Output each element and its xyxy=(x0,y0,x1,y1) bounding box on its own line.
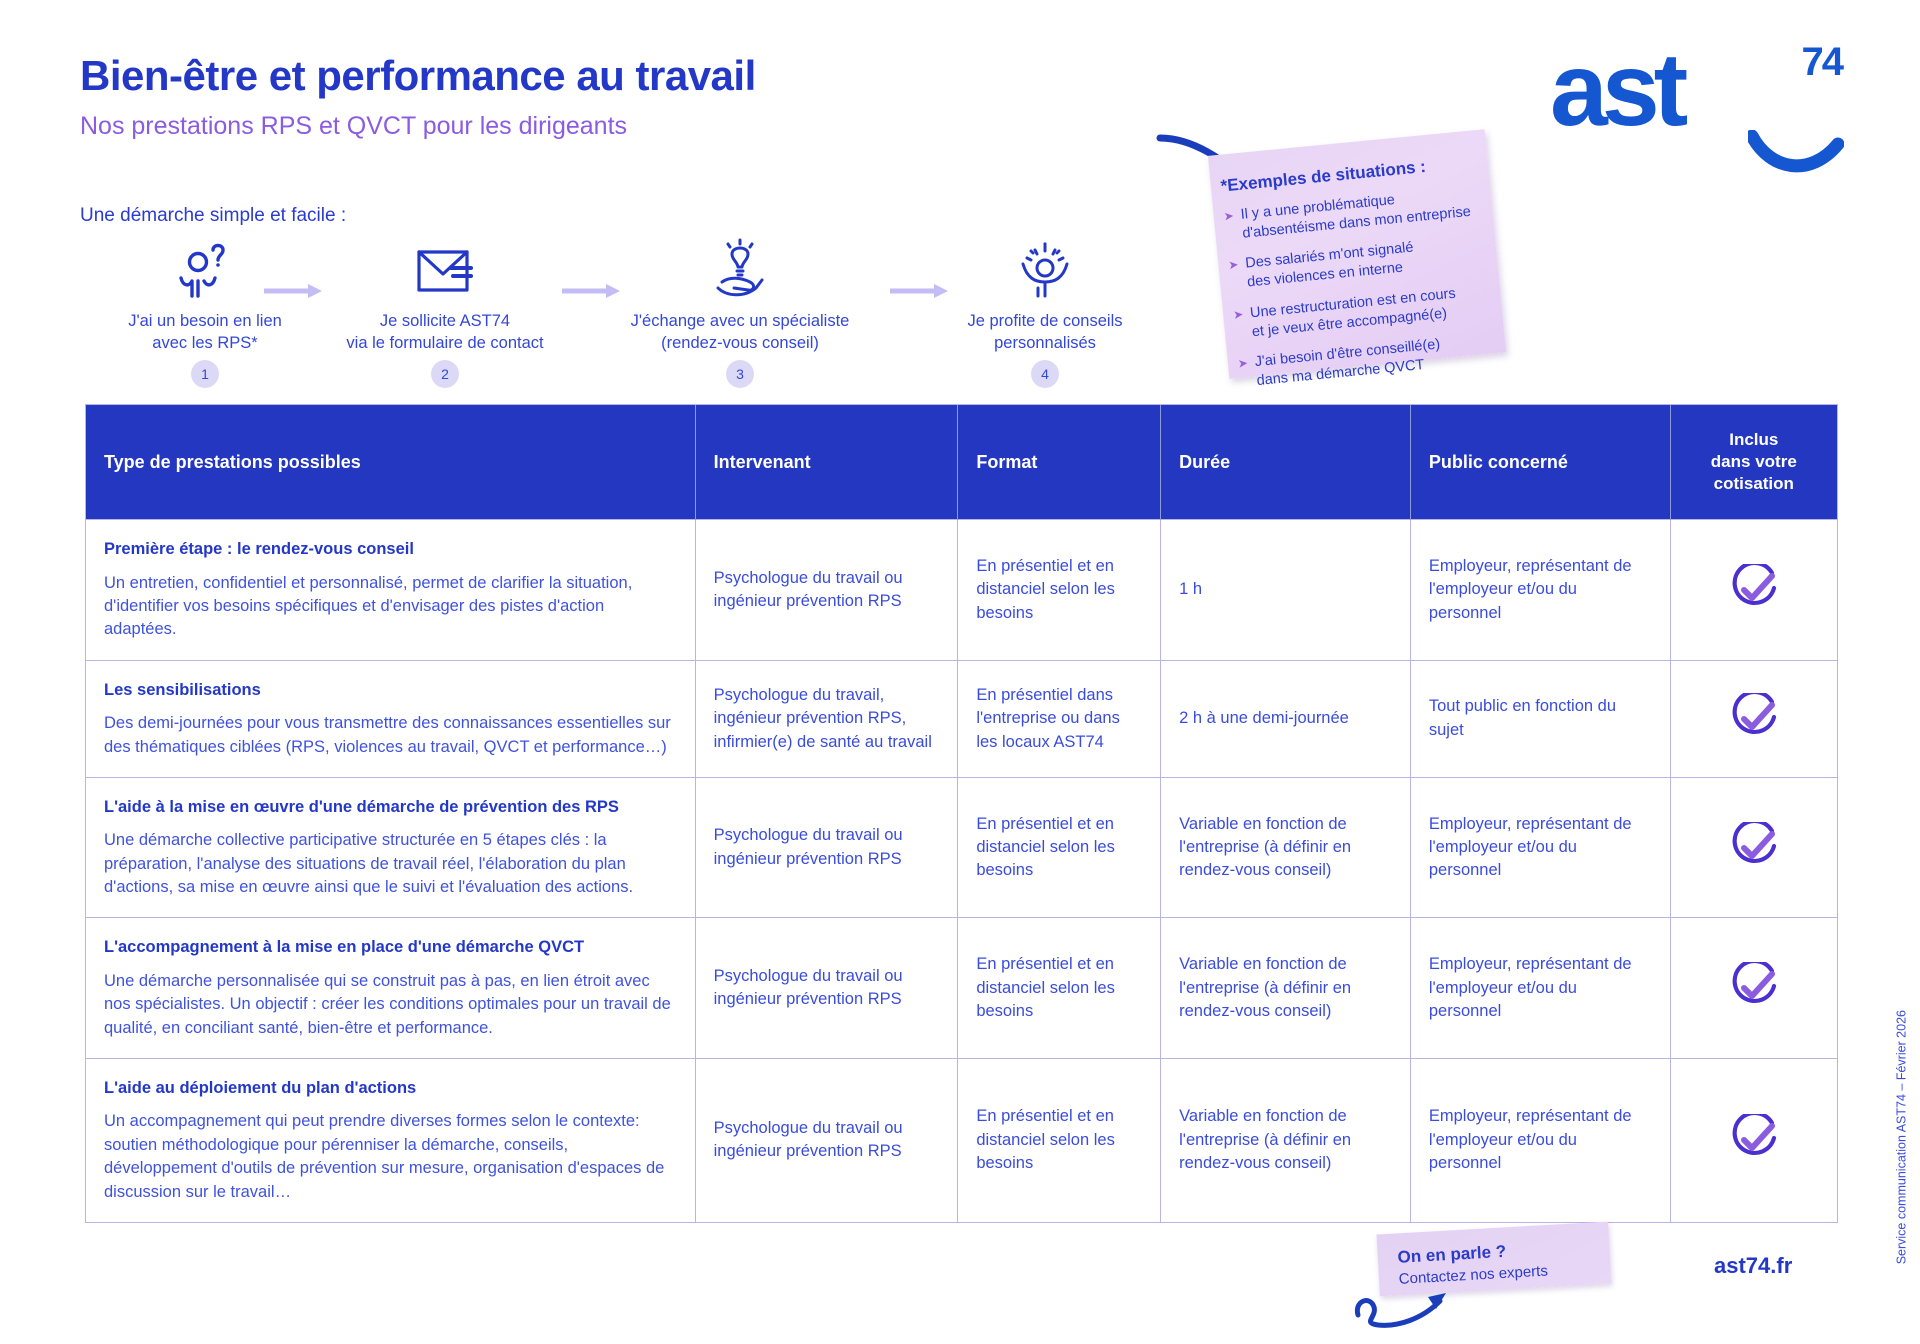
envelope-icon xyxy=(330,238,560,300)
process-step-3: J'échange avec un spécialiste (rendez-vo… xyxy=(625,238,855,388)
step-label: Je sollicite AST74 via le formulaire de … xyxy=(330,310,560,354)
step-label: Je profite de conseils personnalisés xyxy=(930,310,1160,354)
table-row: L'aide au déploiement du plan d'actions … xyxy=(86,1058,1837,1221)
cell-intervenant: Psychologue du travail ou ingénieur prév… xyxy=(695,777,958,918)
table-row: Première étape : le rendez-vous conseil … xyxy=(86,520,1837,661)
row-title: L'aide au déploiement du plan d'actions xyxy=(104,1077,677,1099)
cell-duree: 2 h à une demi-journée xyxy=(1161,660,1411,777)
row-title: Première étape : le rendez-vous conseil xyxy=(104,538,677,560)
bullet-arrow-icon: ➤ xyxy=(1237,354,1251,393)
row-description: Une démarche collective participative st… xyxy=(104,829,677,899)
row-title: L'accompagnement à la mise en place d'un… xyxy=(104,936,677,958)
cell-intervenant: Psychologue du travail ou ingénieur prév… xyxy=(695,918,958,1059)
step-number: 4 xyxy=(1031,360,1059,388)
check-circle-icon xyxy=(1689,822,1819,874)
website-url: ast74.fr xyxy=(1714,1253,1792,1279)
lightbulb-hand-icon xyxy=(625,238,855,300)
cell-format: En présentiel et en distanciel selon les… xyxy=(958,1058,1161,1221)
row-title: Les sensibilisations xyxy=(104,679,677,701)
sticky-item-text: Il y a une problématiqued'absentéisme da… xyxy=(1240,184,1472,244)
step-number: 3 xyxy=(726,360,754,388)
sticky-item-text: Une restructuration est en courset je ve… xyxy=(1249,284,1458,342)
poster-page: Bien-être et performance au travail Nos … xyxy=(0,0,1920,1344)
check-circle-icon xyxy=(1689,564,1819,616)
row-description: Un accompagnement qui peut prendre diver… xyxy=(104,1110,677,1204)
col-header-inclus: Inclus dans votre cotisation xyxy=(1670,405,1837,520)
cell-duree: Variable en fonction de l'entreprise (à … xyxy=(1161,1058,1411,1221)
cell-format: En présentiel et en distanciel selon les… xyxy=(958,918,1161,1059)
cell-intervenant: Psychologue du travail ou ingénieur prév… xyxy=(695,1058,958,1221)
col-header-intervenant: Intervenant xyxy=(695,405,958,520)
col-header-duree: Durée xyxy=(1161,405,1411,520)
process-step-4: Je profite de conseils personnalisés 4 xyxy=(930,238,1160,388)
ast74-logo: ast 74 xyxy=(1550,38,1850,168)
cell-intervenant: Psychologue du travail, ingénieur préven… xyxy=(695,660,958,777)
cell-duree: Variable en fonction de l'entreprise (à … xyxy=(1161,777,1411,918)
cell-inclus xyxy=(1670,520,1837,661)
col-header-format: Format xyxy=(958,405,1161,520)
process-step-1: J'ai un besoin en lien avec les RPS* 1 xyxy=(90,238,320,388)
cell-type: L'accompagnement à la mise en place d'un… xyxy=(86,918,695,1059)
sticky-note: *Exemples de situations : ➤ Il y a une p… xyxy=(1196,126,1517,384)
cell-format: En présentiel et en distanciel selon les… xyxy=(958,520,1161,661)
table-row: Les sensibilisations Des demi-journées p… xyxy=(86,660,1837,777)
page-title: Bien-être et performance au travail xyxy=(80,52,756,100)
arrow-right-icon xyxy=(560,282,622,300)
bullet-arrow-icon: ➤ xyxy=(1223,207,1237,246)
cell-public: Tout public en fonction du sujet xyxy=(1410,660,1670,777)
bullet-arrow-icon: ➤ xyxy=(1232,305,1246,344)
check-circle-icon xyxy=(1689,1114,1819,1166)
logo-wordmark: ast xyxy=(1550,38,1682,142)
row-description: Des demi-journées pour vous transmettre … xyxy=(104,712,677,759)
step-label: J'ai un besoin en lien avec les RPS* xyxy=(90,310,320,354)
table-row: L'aide à la mise en œuvre d'une démarche… xyxy=(86,777,1837,918)
logo-superscript: 74 xyxy=(1802,40,1843,85)
logo-swoosh-icon xyxy=(1748,130,1844,176)
cell-inclus xyxy=(1670,660,1837,777)
cell-inclus xyxy=(1670,777,1837,918)
cell-format: En présentiel dans l'entreprise ou dans … xyxy=(958,660,1161,777)
sticky-item-text: J'ai besoin d'être conseillé(e)dans ma d… xyxy=(1254,335,1443,391)
sticky-item-text: Des salariés m'ont signalédes violences … xyxy=(1245,239,1417,293)
check-circle-icon xyxy=(1689,962,1819,1014)
process-step-2: Je sollicite AST74 via le formulaire de … xyxy=(330,238,560,388)
cell-type: L'aide au déploiement du plan d'actions … xyxy=(86,1058,695,1221)
check-circle-icon xyxy=(1689,693,1819,745)
col-header-type: Type de prestations possibles xyxy=(86,405,695,520)
cell-type: Première étape : le rendez-vous conseil … xyxy=(86,520,695,661)
cell-public: Employeur, représentant de l'employeur e… xyxy=(1410,777,1670,918)
step-number: 2 xyxy=(431,360,459,388)
row-title: L'aide à la mise en œuvre d'une démarche… xyxy=(104,796,677,818)
col-header-public: Public concerné xyxy=(1410,405,1670,520)
cell-inclus xyxy=(1670,1058,1837,1221)
cell-type: Les sensibilisations Des demi-journées p… xyxy=(86,660,695,777)
cell-format: En présentiel et en distanciel selon les… xyxy=(958,777,1161,918)
prestations-table: Type de prestations possibles Intervenan… xyxy=(85,404,1838,1223)
table-header-row: Type de prestations possibles Intervenan… xyxy=(86,405,1837,520)
row-description: Une démarche personnalisée qui se constr… xyxy=(104,970,677,1040)
curved-arrow-up-icon xyxy=(1348,1275,1458,1330)
cell-intervenant: Psychologue du travail ou ingénieur prév… xyxy=(695,520,958,661)
step-number: 1 xyxy=(191,360,219,388)
celebrating-person-icon xyxy=(930,238,1160,300)
cell-type: L'aide à la mise en œuvre d'une démarche… xyxy=(86,777,695,918)
cell-public: Employeur, représentant de l'employeur e… xyxy=(1410,520,1670,661)
cell-duree: 1 h xyxy=(1161,520,1411,661)
process-caption: Une démarche simple et facile : xyxy=(80,205,346,227)
row-description: Un entretien, confidentiel et personnali… xyxy=(104,572,677,642)
step-label: J'échange avec un spécialiste (rendez-vo… xyxy=(625,310,855,354)
cell-duree: Variable en fonction de l'entreprise (à … xyxy=(1161,918,1411,1059)
cell-public: Employeur, représentant de l'employeur e… xyxy=(1410,918,1670,1059)
cell-public: Employeur, représentant de l'employeur e… xyxy=(1410,1058,1670,1221)
page-subtitle: Nos prestations RPS et QVCT pour les dir… xyxy=(80,112,627,141)
bullet-arrow-icon: ➤ xyxy=(1228,256,1242,295)
cell-inclus xyxy=(1670,918,1837,1059)
side-credit: Service communication AST74 – Février 20… xyxy=(1894,1010,1908,1264)
arrow-right-icon xyxy=(262,282,324,300)
table-body: Première étape : le rendez-vous conseil … xyxy=(86,520,1837,1222)
table-row: L'accompagnement à la mise en place d'un… xyxy=(86,918,1837,1059)
